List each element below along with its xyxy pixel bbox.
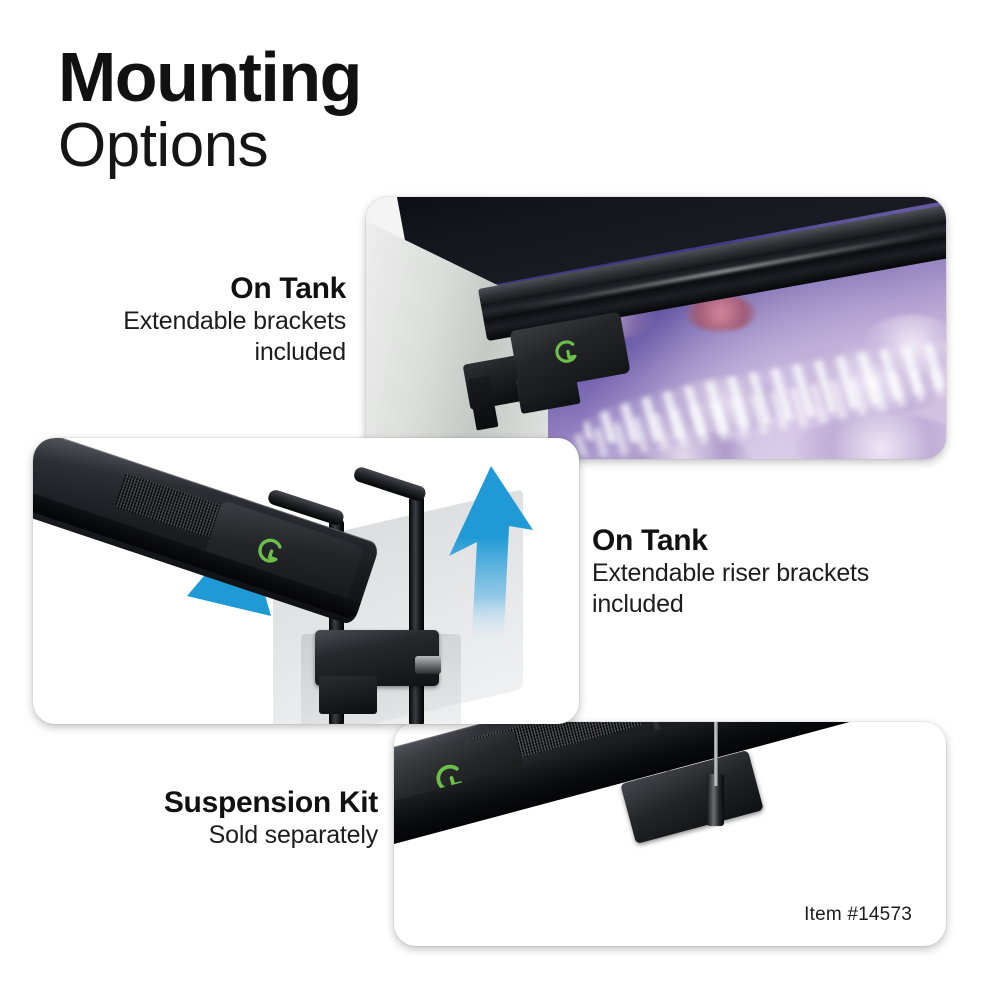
photo-panel-riser-brackets — [33, 438, 579, 724]
riser-arm-right — [409, 494, 424, 724]
clamp-thumbscrew — [415, 656, 441, 674]
callout-on-tank-brackets: On Tank Extendable brackets included — [38, 272, 346, 367]
aquarium-scene — [366, 197, 946, 459]
riser-arm-top-right — [352, 465, 427, 502]
panel-image-riser — [33, 438, 579, 724]
power-icon — [552, 335, 585, 368]
callout-body-line1: Extendable brackets — [38, 306, 346, 337]
title-line-mounting: Mounting — [58, 44, 478, 111]
panel-image-suspension: Item #14573 — [394, 722, 946, 946]
photo-panel-suspension-kit: Item #14573 — [394, 722, 946, 946]
callout-suspension-kit: Suspension Kit Sold separately — [66, 786, 378, 851]
callout-heading: Suspension Kit — [66, 786, 378, 820]
callout-heading: On Tank — [38, 272, 346, 306]
callout-body-line2: included — [592, 589, 922, 620]
callout-body-line1: Sold separately — [66, 820, 378, 851]
suspension-scene: Item #14573 — [394, 722, 946, 946]
tank-clamp-jaw — [319, 676, 377, 714]
arrow-up-icon — [433, 464, 543, 659]
page-title: Mounting Options — [58, 44, 478, 177]
infographic-canvas: Mounting Options On Tank Extendable brac… — [0, 0, 1000, 1000]
title-line-options: Options — [58, 115, 478, 177]
suspension-cable — [714, 722, 718, 786]
photo-panel-on-tank — [366, 197, 946, 459]
callout-heading: On Tank — [592, 524, 922, 558]
item-number-label: Item #14573 — [804, 904, 912, 926]
riser-bracket-scene — [33, 438, 579, 724]
callout-body-line2: included — [38, 337, 346, 368]
panel-image-on-tank — [366, 197, 946, 459]
callout-body-line1: Extendable riser brackets — [592, 558, 922, 589]
callout-on-tank-riser: On Tank Extendable riser brackets includ… — [592, 524, 922, 619]
